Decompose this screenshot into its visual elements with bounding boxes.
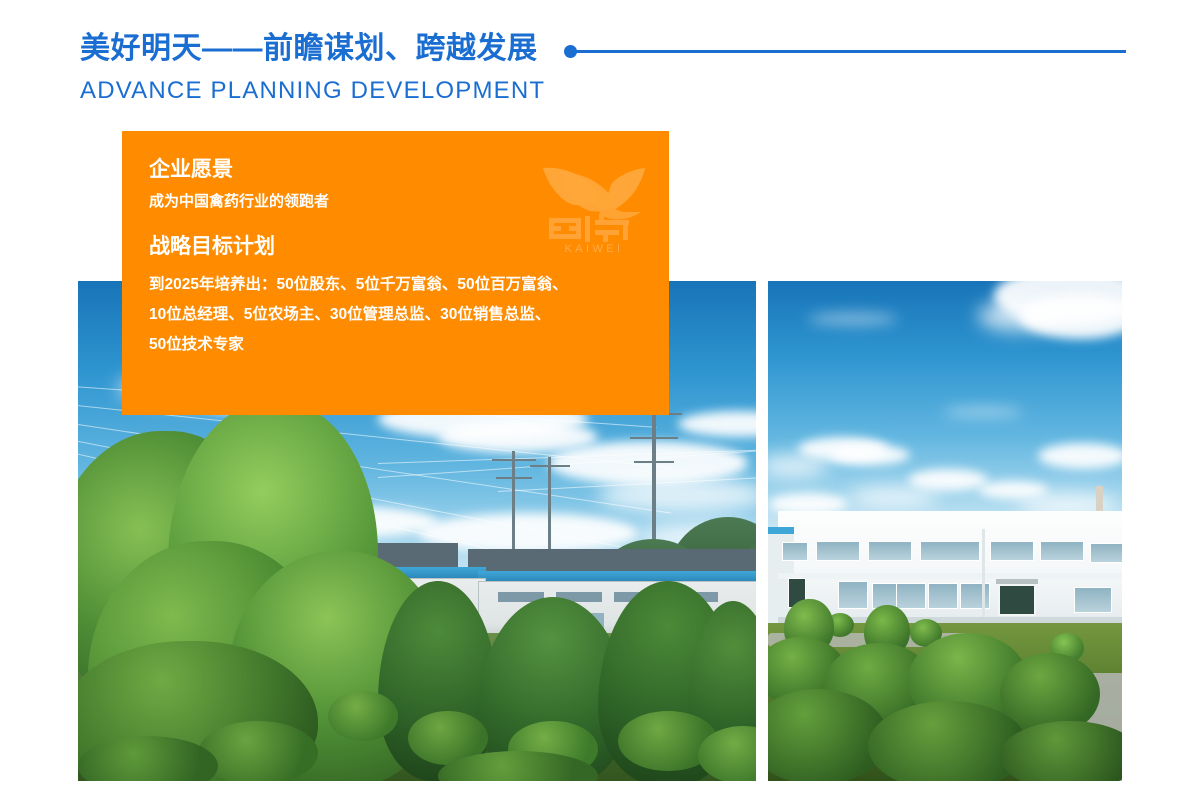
page-subtitle: ADVANCE PLANNING DEVELOPMENT bbox=[80, 79, 545, 103]
panel-content: 企业愿景 成为中国禽药行业的领跑者 战略目标计划 到2025年培养出：50位股东… bbox=[149, 159, 651, 360]
vision-heading: 企业愿景 bbox=[149, 159, 651, 180]
strategy-heading: 战略目标计划 bbox=[149, 236, 651, 257]
vision-strategy-panel: KAIWEI 企业愿景 成为中国禽药行业的领跑者 战略目标计划 到2025年培养… bbox=[122, 131, 669, 415]
office-building-photo bbox=[768, 281, 1122, 781]
strategy-line-1: 到2025年培养出：50位股东、5位千万富翁、50位百万富翁、 bbox=[149, 270, 651, 300]
strategy-line-2: 10位总经理、5位农场主、30位管理总监、30位销售总监、 bbox=[149, 300, 651, 330]
strategy-line-3: 50位技术专家 bbox=[149, 330, 651, 360]
page-header: 美好明天——前瞻谋划、跨越发展 ADVANCE PLANNING DEVELOP… bbox=[0, 0, 1200, 120]
vision-text: 成为中国禽药行业的领跑者 bbox=[149, 194, 651, 209]
header-divider-line bbox=[568, 50, 1126, 53]
page-title: 美好明天——前瞻谋划、跨越发展 bbox=[80, 34, 538, 64]
slide-page: 美好明天——前瞻谋划、跨越发展 ADVANCE PLANNING DEVELOP… bbox=[0, 0, 1200, 793]
